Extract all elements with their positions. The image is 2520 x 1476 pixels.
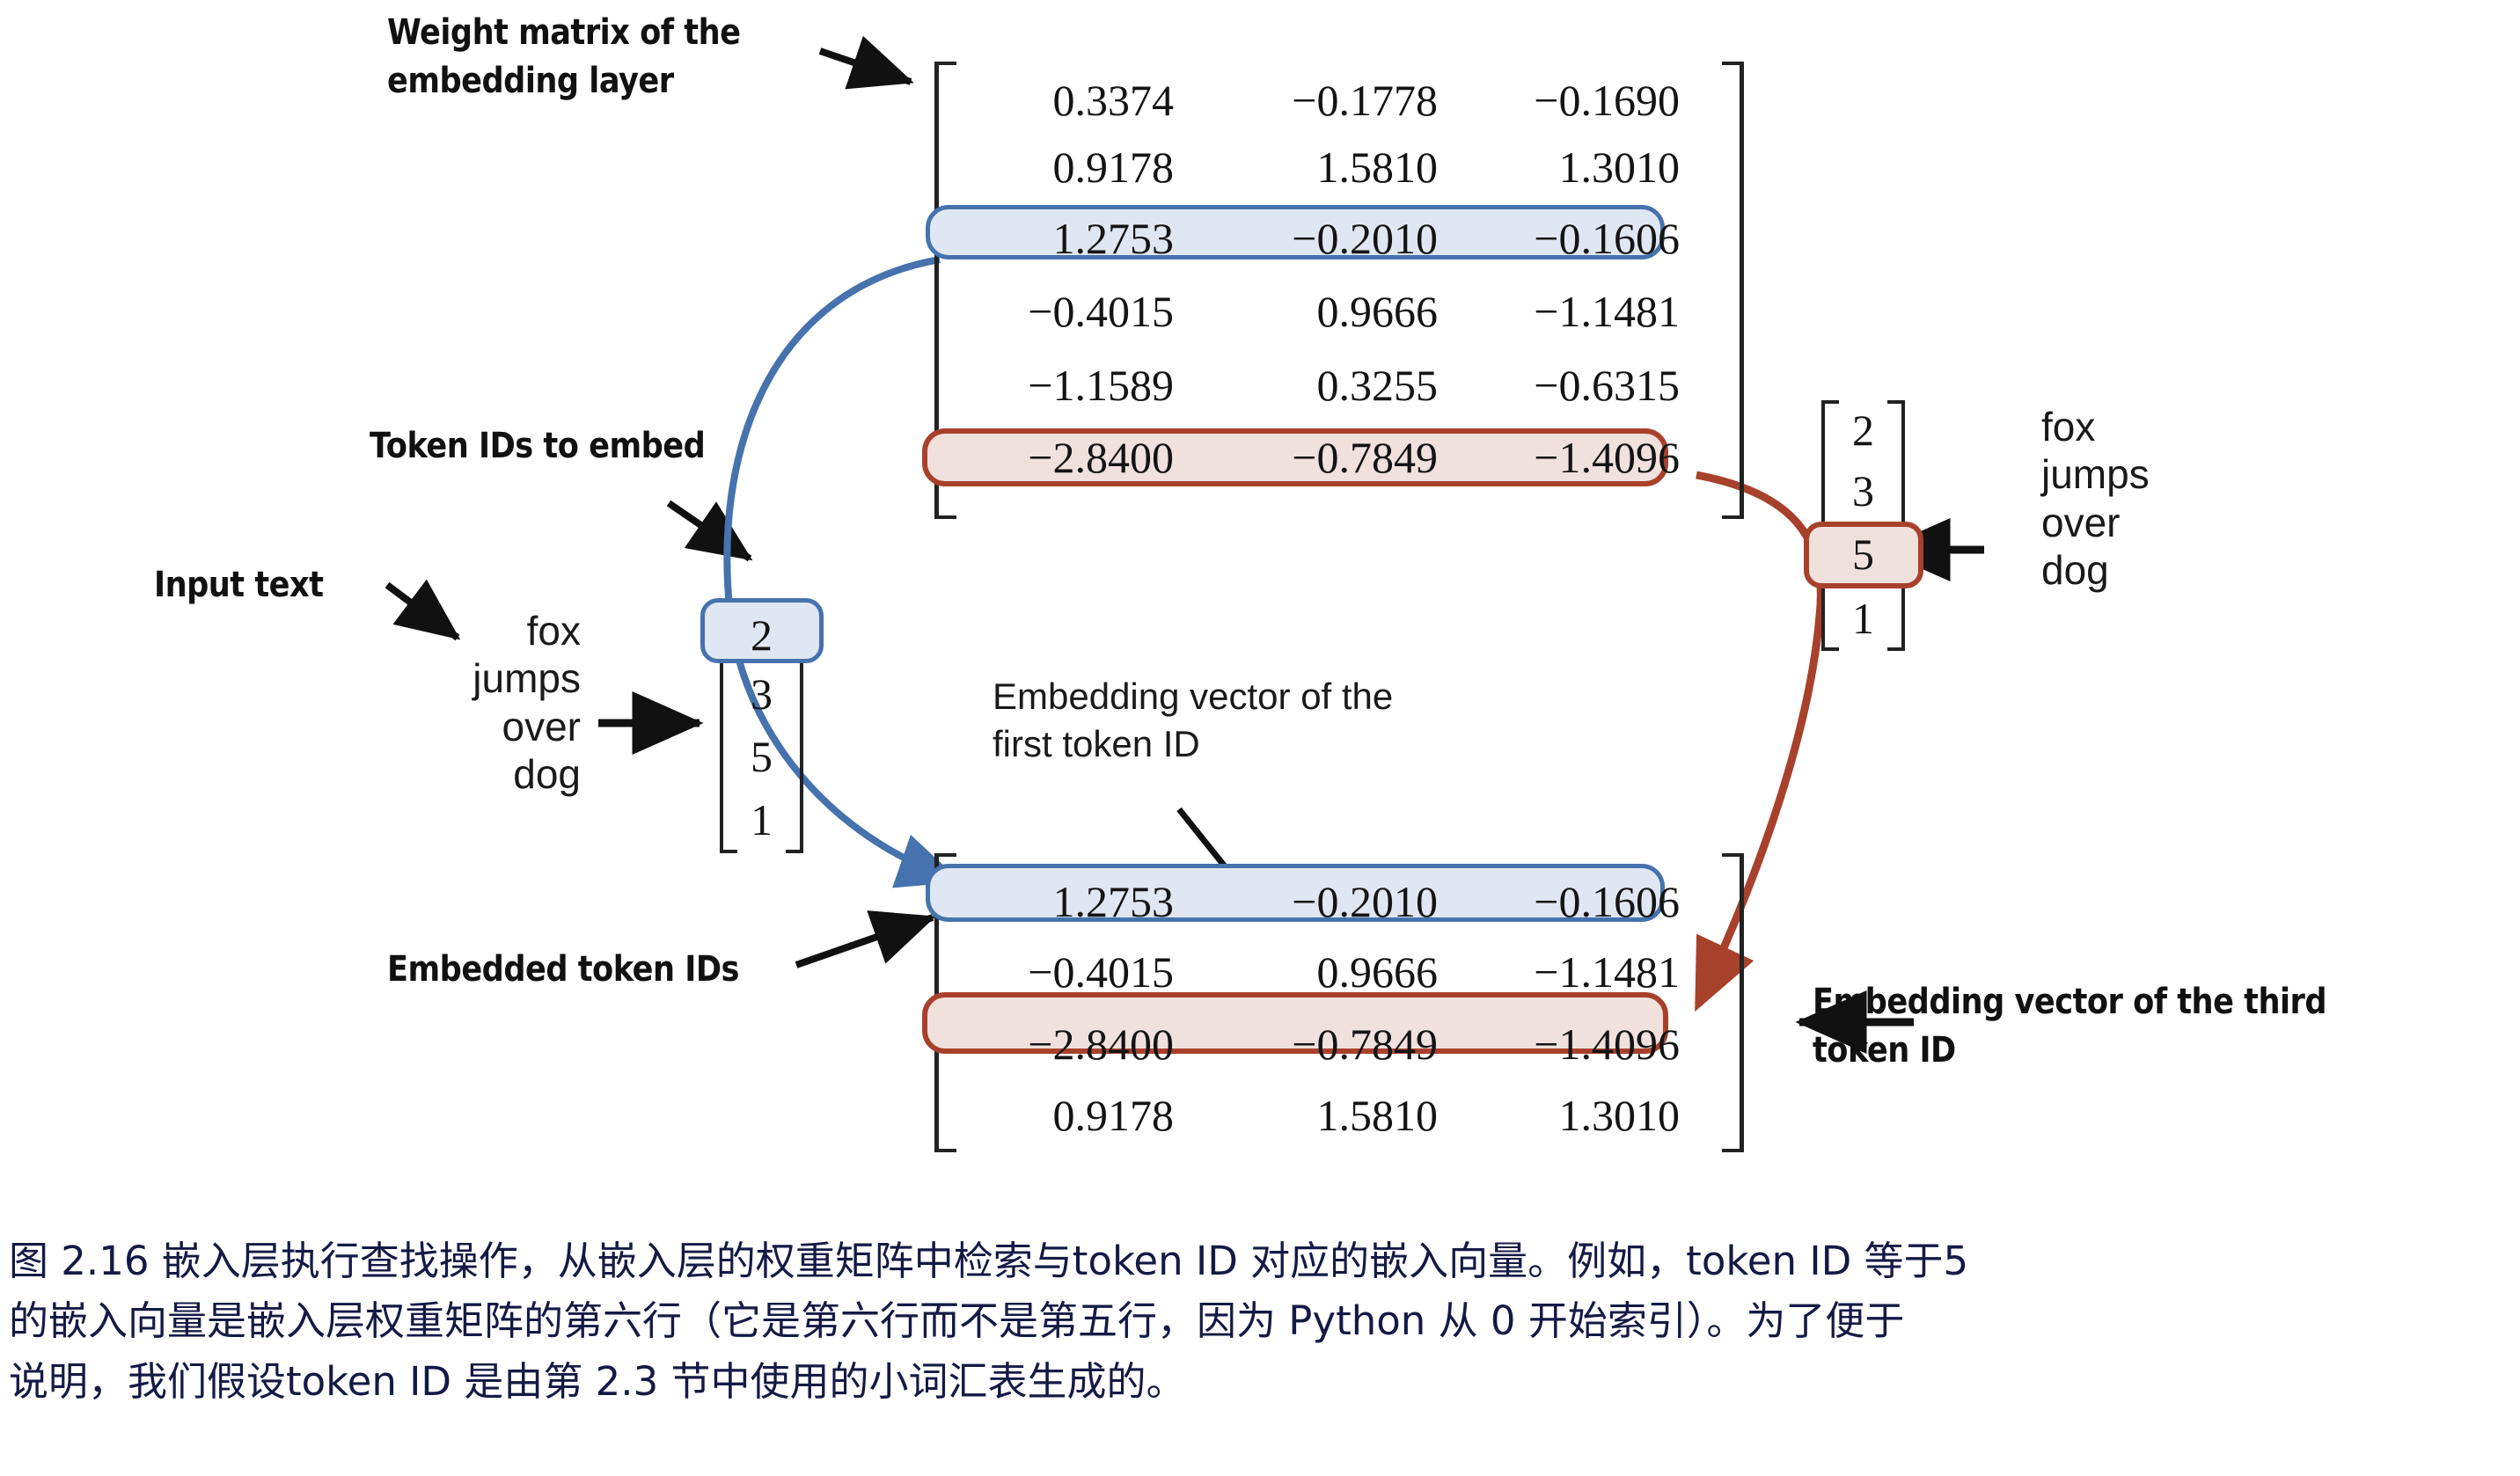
matrix-cell: −0.1690	[1438, 75, 1680, 126]
matrix-cell: 1.2753	[954, 213, 1174, 264]
label-embedding-vector-first: Embedding vector of the first token ID	[993, 673, 1626, 768]
matrix-row: −0.4015 0.9666 −1.1481	[954, 936, 1711, 1008]
label-weight-matrix: Weight matrix of the embedding layer	[387, 9, 868, 106]
matrix-row: 1.2753 −0.2010 −0.1606	[954, 202, 1711, 274]
token-id: 1	[1821, 587, 1905, 650]
caption-line: 的嵌入向量是嵌入层权重矩阵的第六行（它是第六行而不是第五行，因为 Python …	[9, 1291, 2516, 1351]
right-word: over	[2041, 499, 2323, 546]
matrix-cell: 1.2753	[954, 876, 1174, 927]
weight-matrix-rows: 0.3374 −0.1778 −0.1690 0.9178 1.5810 1.3…	[954, 69, 1711, 493]
weight-matrix: 0.3374 −0.1778 −0.1690 0.9178 1.5810 1.3…	[934, 62, 1744, 519]
label-token-ids-to-embed: Token IDs to embed	[370, 422, 912, 471]
right-words-column: fox jumps over dog	[2041, 403, 2323, 594]
right-word: jumps	[2041, 450, 2323, 498]
matrix-cell: −2.8400	[954, 432, 1174, 483]
matrix-cell: −0.7849	[1174, 1019, 1438, 1070]
embedded-matrix-rows: 1.2753 −0.2010 −0.1606 −0.4015 0.9666 −1…	[954, 867, 1711, 1151]
matrix-cell: 1.5810	[1174, 1090, 1438, 1141]
input-word: dog	[334, 750, 581, 798]
matrix-cell: 0.9178	[954, 142, 1174, 193]
matrix-cell: −0.7849	[1174, 432, 1438, 483]
matrix-cell: −0.2010	[1174, 213, 1438, 264]
caption-line: 说明，我们假设token ID 是由第 2.3 节中使用的小词汇表生成的。	[9, 1352, 2516, 1412]
matrix-cell: 1.5810	[1174, 142, 1438, 193]
matrix-cell: −0.4015	[954, 286, 1174, 337]
matrix-cell: −1.4096	[1438, 1019, 1680, 1070]
matrix-cell: 0.3374	[954, 75, 1174, 126]
matrix-cell: −2.8400	[954, 1019, 1174, 1070]
bracket-right	[1722, 853, 1744, 1152]
matrix-cell: 0.3255	[1174, 360, 1438, 411]
label-embedded-token-ids: Embedded token IDs	[387, 946, 868, 994]
token-id: 3	[720, 663, 803, 725]
token-id: 2	[1821, 400, 1905, 460]
matrix-row: 0.9178 1.5810 1.3010	[954, 132, 1711, 202]
matrix-row: −2.8400 −0.7849 −1.4096	[954, 422, 1711, 493]
matrix-cell: −1.1481	[1438, 286, 1680, 337]
right-token-id-column: 2 3 5 1	[1821, 400, 1905, 651]
bracket-right	[1722, 62, 1744, 519]
input-word: jumps	[334, 654, 581, 702]
right-word: dog	[2041, 546, 2323, 594]
matrix-cell: −0.1778	[1174, 75, 1438, 126]
caption-line: 图 2.16 嵌入层执行查找操作，从嵌入层的权重矩阵中检索与token ID 对…	[9, 1231, 2516, 1291]
right-word: fox	[2041, 403, 2323, 450]
matrix-cell: 1.3010	[1438, 1090, 1680, 1141]
token-id: 5	[1821, 522, 1905, 587]
matrix-cell: −1.1589	[954, 360, 1174, 411]
matrix-row: 0.9178 1.5810 1.3010	[954, 1080, 1711, 1151]
token-id: 2	[720, 607, 803, 663]
input-word: over	[334, 703, 581, 750]
token-id: 3	[1821, 460, 1905, 522]
matrix-row: −2.8400 −0.7849 −1.4096	[954, 1008, 1711, 1080]
figure-canvas: Weight matrix of the embedding layer 0.3…	[0, 0, 2520, 1476]
matrix-row: −1.1589 0.3255 −0.6315	[954, 348, 1711, 422]
label-embedding-vector-third: Embedding vector of the third token ID	[1813, 978, 2479, 1075]
input-words-column: fox jumps over dog	[334, 607, 581, 798]
figure-caption: 图 2.16 嵌入层执行查找操作，从嵌入层的权重矩阵中检索与token ID 对…	[9, 1231, 2516, 1412]
matrix-cell: −0.4015	[954, 946, 1174, 997]
matrix-cell: 1.3010	[1438, 142, 1680, 193]
matrix-cell: 0.9666	[1174, 946, 1438, 997]
matrix-cell: −1.1481	[1438, 946, 1680, 997]
label-input-text: Input text	[154, 561, 464, 610]
matrix-cell: −1.4096	[1438, 432, 1680, 483]
left-token-id-column: 2 3 5 1	[720, 607, 803, 853]
matrix-row: −0.4015 0.9666 −1.1481	[954, 274, 1711, 348]
matrix-row: 1.2753 −0.2010 −0.1606	[954, 867, 1711, 936]
matrix-cell: −0.6315	[1438, 360, 1680, 411]
matrix-cell: −0.2010	[1174, 876, 1438, 927]
matrix-cell: −0.1606	[1438, 213, 1680, 264]
input-word: fox	[334, 607, 581, 654]
matrix-cell: 0.9178	[954, 1090, 1174, 1141]
token-id: 5	[720, 725, 803, 788]
matrix-cell: −0.1606	[1438, 876, 1680, 927]
matrix-row: 0.3374 −0.1778 −0.1690	[954, 69, 1711, 132]
embedded-matrix: 1.2753 −0.2010 −0.1606 −0.4015 0.9666 −1…	[934, 853, 1744, 1152]
arrow-token-ids-to-embed	[669, 503, 750, 559]
matrix-cell: 0.9666	[1174, 286, 1438, 337]
token-id: 1	[720, 788, 803, 851]
